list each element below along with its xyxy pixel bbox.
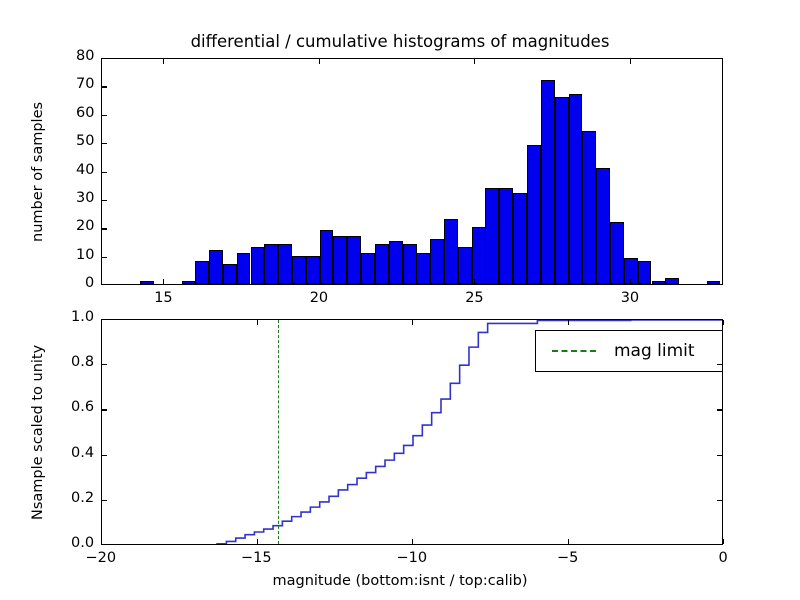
histogram-bar: [223, 264, 237, 284]
axis-tick-label: 25: [465, 290, 483, 306]
cumulative-plot-area: mag limit: [102, 320, 722, 544]
histogram-bar: [596, 168, 610, 284]
axis-tick: [412, 539, 413, 544]
top-histogram-axes: [101, 58, 723, 285]
histogram-bar: [292, 256, 306, 284]
histogram-bar: [320, 230, 334, 284]
histogram-bar: [485, 188, 499, 284]
histogram-bar: [652, 281, 666, 284]
axis-tick: [257, 320, 258, 325]
histogram-bar: [555, 97, 569, 284]
histogram-bar: [264, 244, 278, 284]
axis-tick-label: 20: [76, 218, 94, 234]
axis-tick: [474, 279, 475, 284]
axis-tick-label: −10: [397, 550, 428, 566]
axis-tick-label: 0.8: [71, 354, 94, 370]
axis-tick: [102, 500, 107, 501]
axis-tick: [319, 279, 320, 284]
axis-tick-label: −15: [241, 550, 272, 566]
histogram-bar: [375, 244, 389, 284]
legend-mag-limit-label: mag limit: [614, 341, 695, 361]
histogram-bar: [347, 236, 361, 284]
axis-tick-label: 0: [719, 550, 728, 566]
axis-tick-label: 0.0: [71, 535, 94, 551]
histogram-bar: [140, 281, 154, 284]
histogram-bar: [610, 222, 624, 284]
axis-tick-label: 70: [76, 76, 94, 92]
differential-histogram-bars: [102, 59, 722, 284]
histogram-bar: [707, 281, 721, 284]
axis-tick-label: 60: [76, 105, 94, 121]
axis-tick: [102, 455, 107, 456]
histogram-bar: [569, 94, 583, 284]
axis-tick: [723, 539, 724, 544]
figure-x-axis-label: magnitude (bottom:isnt / top:calib): [0, 573, 800, 589]
axis-tick: [630, 59, 631, 64]
histogram-bar: [499, 188, 513, 284]
axis-tick: [102, 228, 107, 229]
axis-tick: [102, 86, 107, 87]
histogram-bar: [541, 80, 555, 284]
histogram-bar: [513, 193, 527, 284]
histogram-bar: [527, 145, 541, 284]
axis-tick: [101, 320, 102, 325]
axis-tick: [163, 279, 164, 284]
axis-tick: [474, 59, 475, 64]
histogram-bar: [665, 278, 679, 284]
histogram-bar: [638, 261, 652, 284]
histogram-bar: [195, 261, 209, 284]
axis-tick: [717, 409, 722, 410]
axis-tick: [717, 455, 722, 456]
figure-canvas: differential / cumulative histograms of …: [0, 0, 800, 600]
axis-tick: [102, 409, 107, 410]
histogram-bar: [182, 281, 196, 284]
axis-tick-label: 80: [76, 48, 94, 64]
axis-tick: [101, 539, 102, 544]
axis-tick-label: 0.6: [71, 399, 94, 415]
legend-box[interactable]: mag limit: [535, 330, 722, 372]
axis-tick-label: 30: [76, 190, 94, 206]
histogram-bar: [278, 244, 292, 284]
axis-tick: [257, 539, 258, 544]
axis-tick: [717, 500, 722, 501]
axis-tick: [102, 200, 107, 201]
histogram-bar: [444, 219, 458, 284]
histogram-bar: [209, 250, 223, 284]
axis-tick-label: 0.4: [71, 445, 94, 461]
axis-tick: [102, 257, 107, 258]
axis-tick: [717, 364, 722, 365]
histogram-bar: [416, 253, 430, 284]
axis-tick-label: 0: [85, 275, 94, 291]
figure-title: differential / cumulative histograms of …: [0, 32, 800, 51]
axis-tick-label: −5: [557, 550, 578, 566]
axis-tick: [723, 320, 724, 325]
histogram-bar: [333, 236, 347, 284]
bottom-panel-y-axis-label: Nsample scaled to unity: [30, 344, 46, 519]
histogram-bar: [389, 241, 403, 284]
axis-tick: [319, 59, 320, 64]
histogram-bar: [403, 244, 417, 284]
axis-tick: [568, 320, 569, 325]
histogram-bar: [582, 131, 596, 284]
histogram-bar: [430, 239, 444, 284]
mag-limit-vline: [278, 320, 279, 544]
axis-tick-label: 15: [154, 290, 172, 306]
axis-tick: [102, 143, 107, 144]
axis-tick: [568, 539, 569, 544]
axis-tick: [163, 59, 164, 64]
axis-tick-label: 30: [621, 290, 639, 306]
axis-tick-label: 0.2: [71, 490, 94, 506]
axis-tick: [630, 279, 631, 284]
top-panel-y-axis-label: number of samples: [30, 101, 46, 241]
axis-tick-label: 10: [76, 247, 94, 263]
axis-tick: [102, 115, 107, 116]
axis-tick-label: 40: [76, 162, 94, 178]
histogram-bar: [251, 247, 265, 284]
histogram-bar: [361, 253, 375, 284]
axis-tick: [102, 172, 107, 173]
axis-tick-label: 50: [76, 133, 94, 149]
axis-tick-label: 20: [310, 290, 328, 306]
cumulative-axes: mag limit: [101, 319, 723, 545]
histogram-bar: [237, 253, 251, 284]
legend-mag-limit-swatch: [552, 350, 596, 352]
axis-tick: [102, 364, 107, 365]
histogram-bar: [472, 227, 486, 284]
axis-tick: [412, 320, 413, 325]
axis-tick-label: −20: [86, 550, 117, 566]
axis-tick-label: 1.0: [71, 309, 94, 325]
histogram-bar: [458, 247, 472, 284]
